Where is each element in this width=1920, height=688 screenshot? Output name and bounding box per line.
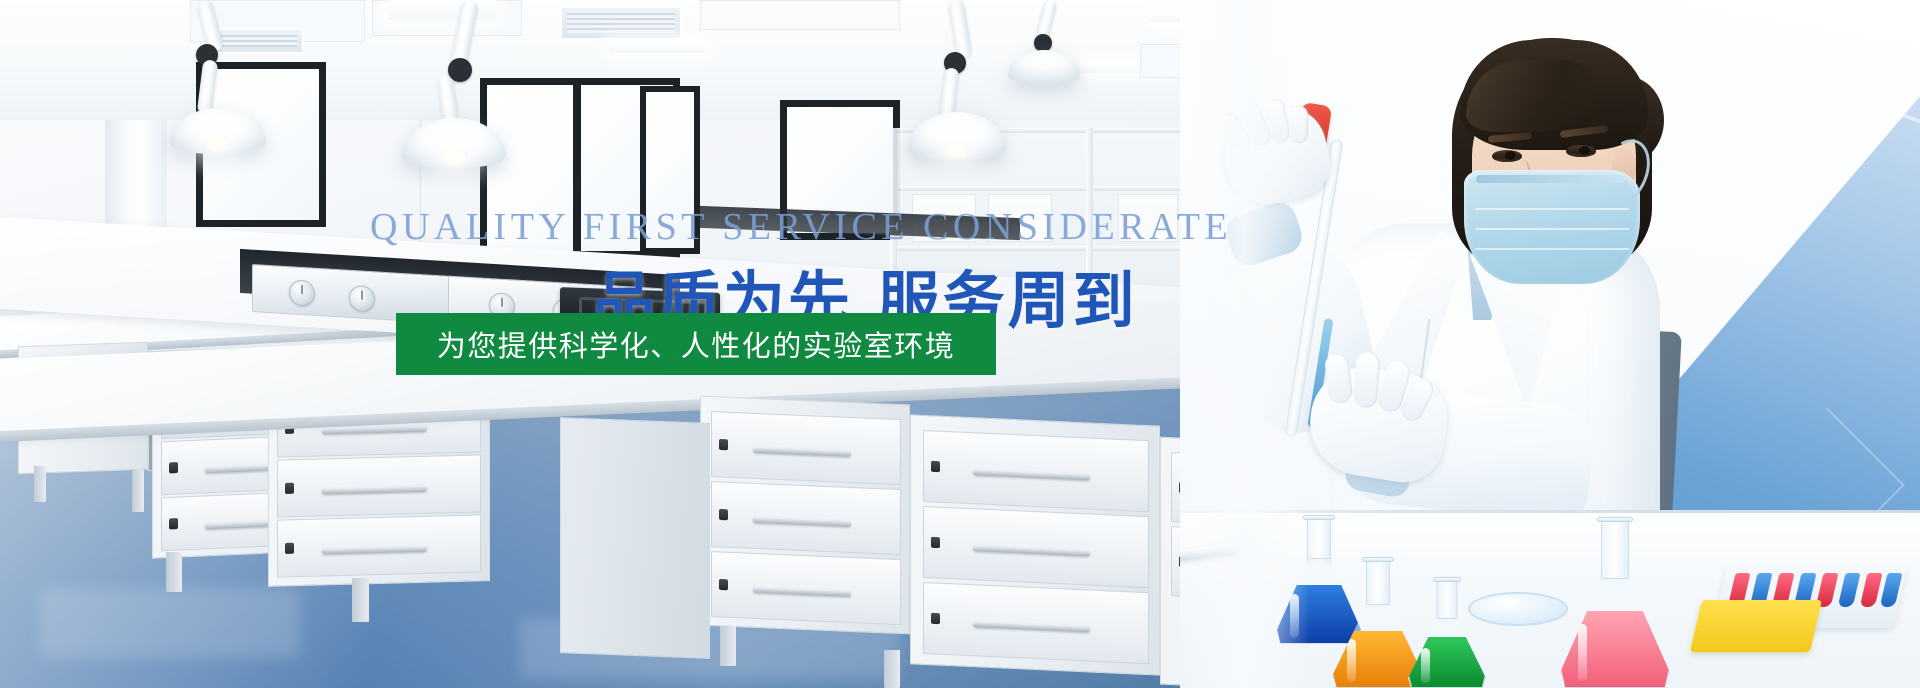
eyebrow-tagline: QUALITY FIRST SERVICE CONSIDERATE <box>370 205 1030 249</box>
subtitle-text: 为您提供科学化、人性化的实验室环境 <box>437 323 956 365</box>
text-overlay: QUALITY FIRST SERVICE CONSIDERATE 品质为先 服… <box>0 0 1920 688</box>
hero-banner: QUALITY FIRST SERVICE CONSIDERATE 品质为先 服… <box>0 0 1920 688</box>
subtitle-green-bar: 为您提供科学化、人性化的实验室环境 <box>396 313 996 375</box>
